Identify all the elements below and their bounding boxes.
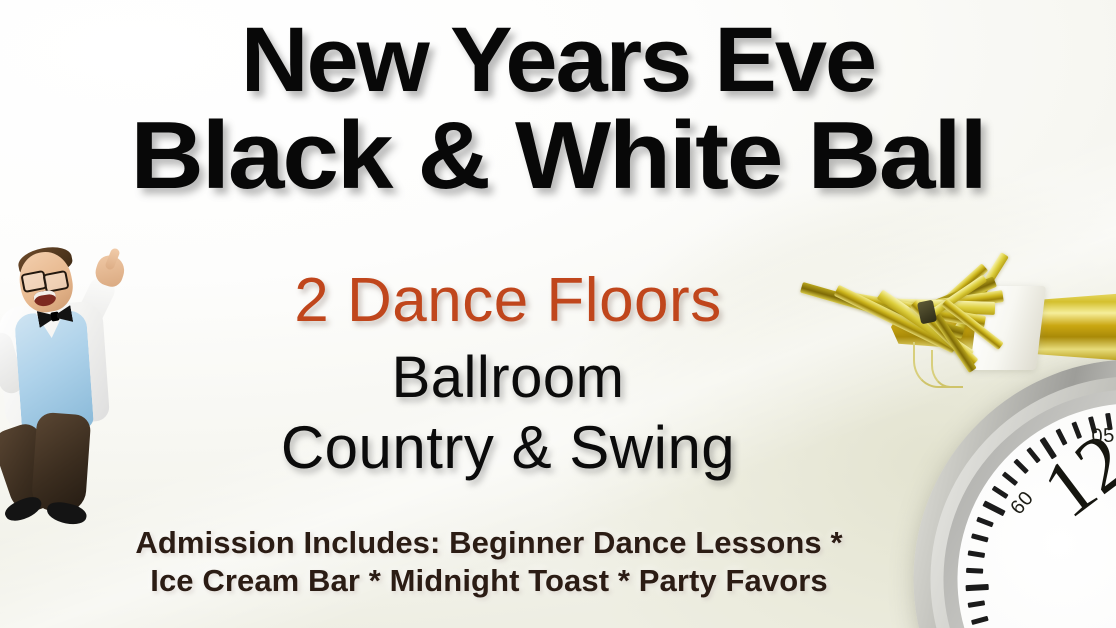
clock-tick-minor (966, 568, 983, 574)
admission-block: Admission Includes: Beginner Dance Lesso… (76, 524, 902, 601)
clock-tick-minor (971, 534, 989, 543)
nye-flyer: 12 1 60 05 New (0, 0, 1116, 628)
clock-tick-minor (971, 616, 989, 625)
clock-tick-major (982, 500, 1005, 516)
clock-minute-label-60: 60 (1006, 487, 1039, 520)
clock-tick-major (966, 584, 989, 591)
clock-tick-minor (991, 486, 1008, 499)
man-leg-front (31, 412, 92, 514)
man-trousers (0, 411, 108, 512)
clock-tick-minor (1013, 459, 1029, 475)
headline-line-1: New Years Eve (0, 16, 1116, 104)
features-block: 2 Dance Floors Ballroom Country & Swing (108, 270, 908, 478)
admission-line-1: Admission Includes: Beginner Dance Lesso… (76, 524, 902, 562)
clock-tick-minor (1001, 472, 1017, 487)
dance-floors-label: 2 Dance Floors (108, 270, 908, 332)
admission-line-2: Ice Cream Bar * Midnight Toast * Party F… (76, 562, 902, 600)
clock-tick-minor (967, 601, 985, 609)
clock-tick-minor (976, 517, 994, 528)
clock-minute-label-05: 05 (1091, 425, 1115, 449)
man-shoe-front (45, 500, 88, 527)
clock-tick-minor (967, 551, 985, 559)
dance-style-ballroom: Ballroom (108, 348, 908, 407)
headline-line-2: Black & White Ball (0, 110, 1116, 202)
headline-block: New Years Eve Black & White Ball (0, 16, 1116, 202)
man-shoe-back (2, 492, 44, 525)
dance-style-country-swing: Country & Swing (108, 417, 908, 478)
